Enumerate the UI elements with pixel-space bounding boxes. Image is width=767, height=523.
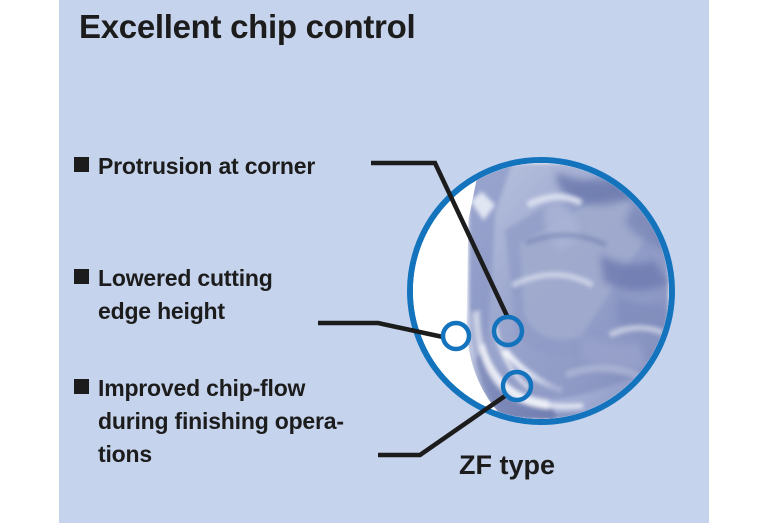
square-bullet-icon (74, 157, 89, 172)
square-bullet-icon (74, 269, 89, 284)
bullet-item-protrusion: Protrusion at corner (74, 150, 315, 183)
photo-ring-border (407, 157, 675, 425)
square-bullet-icon (74, 379, 89, 394)
photo-clip (413, 163, 669, 419)
bullet-item-lowered-edge: Lowered cutting edge height (74, 262, 273, 328)
page-title: Excellent chip control (79, 8, 415, 46)
figure-panel: Excellent chip control Protrusion at cor… (0, 0, 767, 523)
figure-caption: ZF type (459, 450, 555, 481)
bullet-item-chip-flow: Improved chip-flow during finishing oper… (74, 372, 344, 471)
bullet-label: Lowered cutting edge height (98, 262, 273, 328)
insert-photo (407, 157, 675, 425)
insert-macro-photo (413, 163, 669, 419)
bullet-label: Protrusion at corner (98, 150, 315, 183)
bullet-label: Improved chip-flow during finishing oper… (98, 372, 344, 471)
